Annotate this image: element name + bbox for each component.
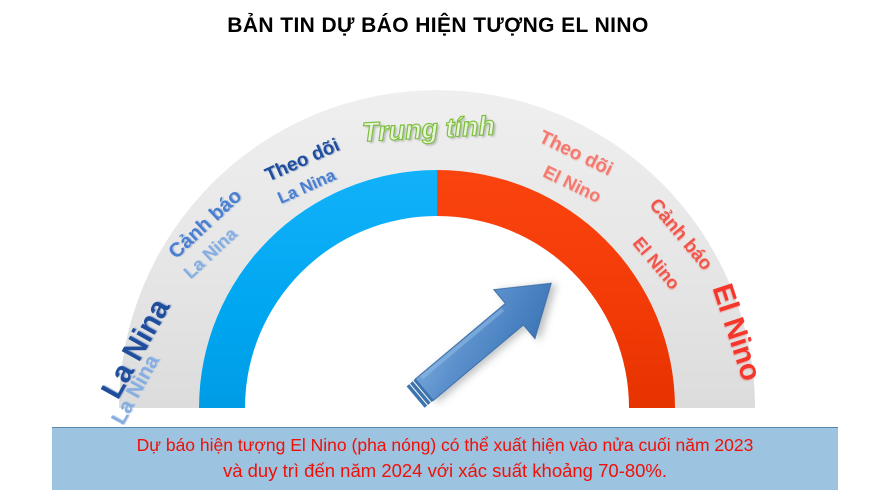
gauge-needle-arrow bbox=[403, 259, 571, 415]
caption-line-1: Dự báo hiện tượng El Nino (pha nóng) có … bbox=[137, 433, 754, 458]
gauge-svg bbox=[0, 60, 876, 420]
caption-line-2: và duy trì đến năm 2024 với xác suất kho… bbox=[223, 458, 667, 484]
forecast-caption-box: Dự báo hiện tượng El Nino (pha nóng) có … bbox=[52, 427, 838, 490]
infographic-root: BẢN TIN DỰ BÁO HIỆN TƯỢNG EL NINO bbox=[0, 0, 876, 500]
page-title: BẢN TIN DỰ BÁO HIỆN TƯỢNG EL NINO bbox=[0, 14, 876, 38]
el-nino-gauge bbox=[0, 60, 876, 420]
